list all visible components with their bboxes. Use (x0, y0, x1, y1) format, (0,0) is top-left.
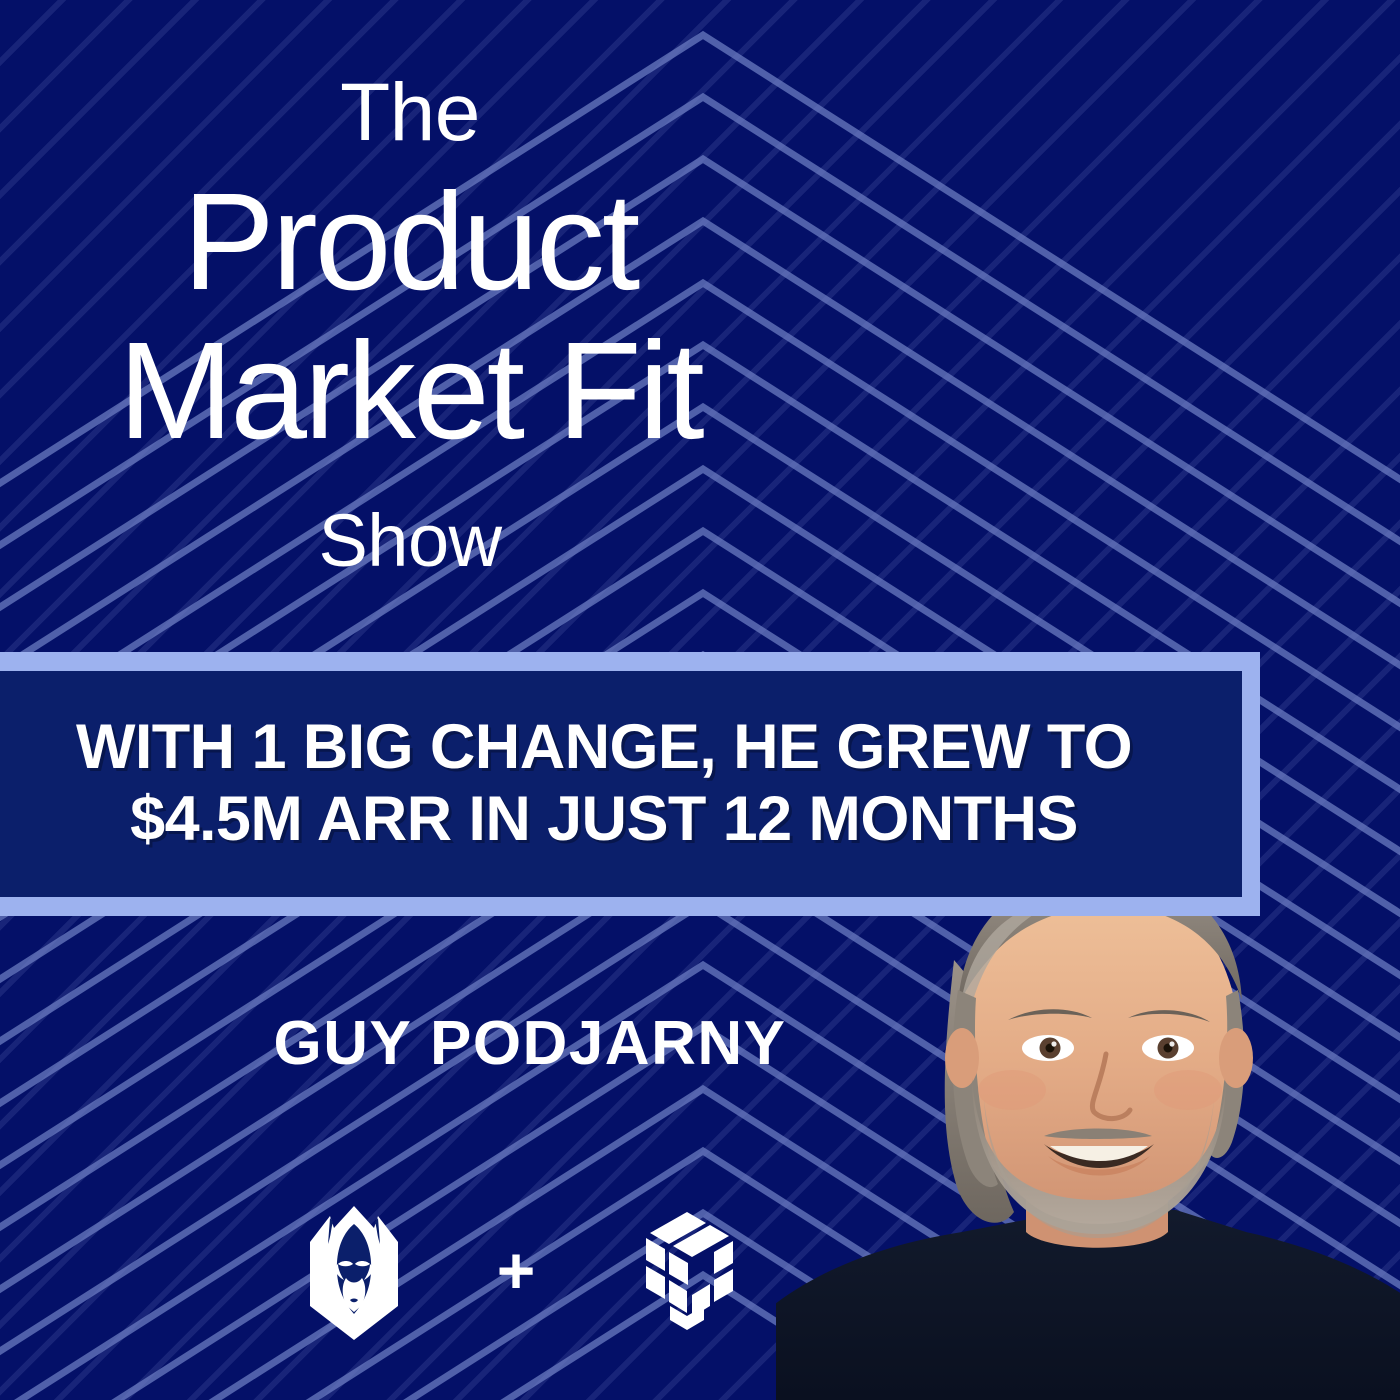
episode-title-line-2: $4.5M ARR IN JUST 12 MONTHS (76, 784, 1132, 856)
show-title-main: Product Market Fit (0, 168, 820, 466)
show-title-prefix: The (0, 72, 820, 154)
show-title-block: The Product Market Fit Show (0, 72, 820, 578)
snyk-dog-shield-icon (300, 1202, 408, 1344)
podcast-cover-art: The Product Market Fit Show (0, 0, 1400, 1400)
episode-title-banner-inner: WITH 1 BIG CHANGE, HE GREW TO $4.5M ARR … (0, 671, 1242, 897)
show-title-line-1: Product (183, 165, 638, 319)
show-title-suffix: Show (0, 504, 820, 578)
guest-photo (776, 840, 1400, 1400)
episode-title-line-1: WITH 1 BIG CHANGE, HE GREW TO (76, 712, 1132, 782)
episode-title-banner: WITH 1 BIG CHANGE, HE GREW TO $4.5M ARR … (0, 652, 1260, 916)
show-title-line-2: Market Fit (0, 317, 820, 466)
guest-name: GUY PODJARNY (0, 1008, 1060, 1079)
logo-row: + (300, 1198, 750, 1348)
episode-title-text: WITH 1 BIG CHANGE, HE GREW TO $4.5M ARR … (76, 712, 1132, 856)
plus-icon: + (497, 1237, 536, 1303)
tessl-cube-icon (624, 1208, 750, 1338)
